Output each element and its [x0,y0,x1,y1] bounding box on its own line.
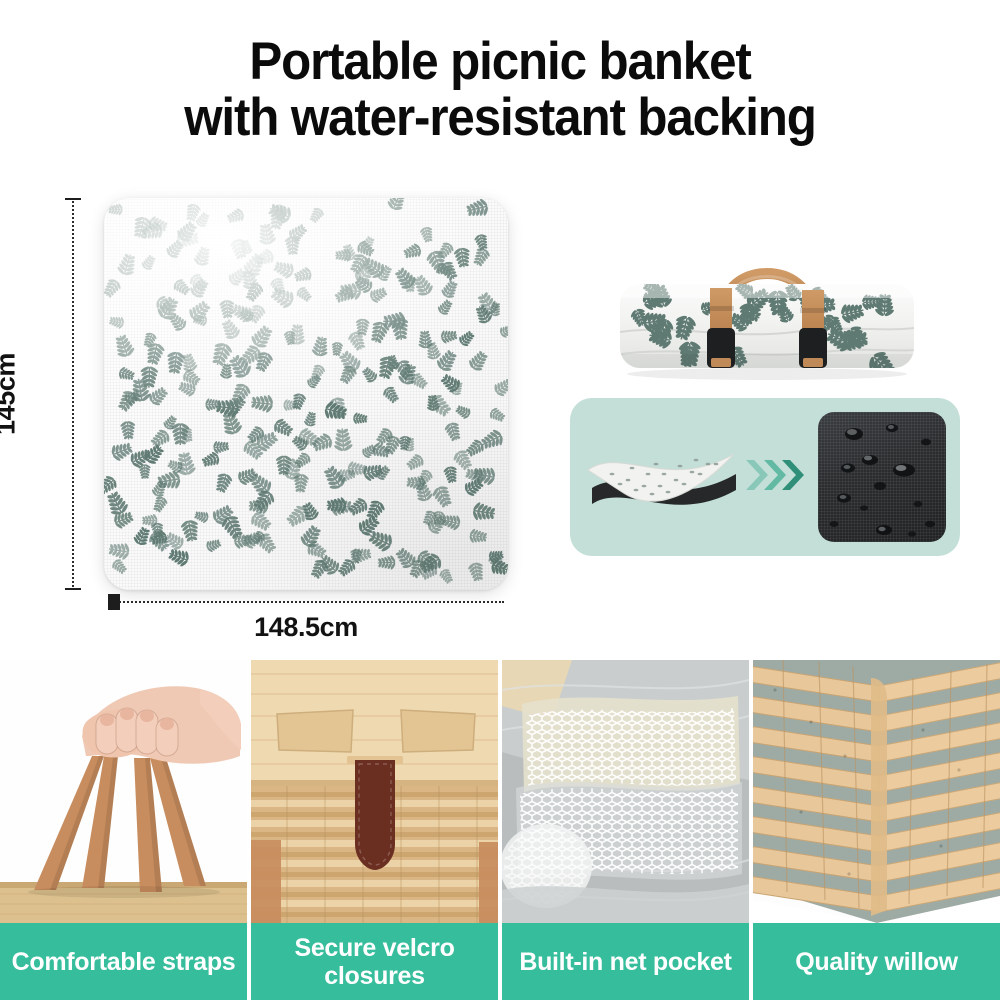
dimension-dotted-line [72,198,74,590]
blanket-sheen [104,198,508,590]
net-mesh-upper [526,708,736,786]
blanket-image [104,198,508,590]
dimension-cap-right [108,594,120,610]
height-dimension-label: 145cm [0,353,22,435]
blanket-surface [104,198,508,590]
width-dimension-line [108,601,504,603]
feature-card-secure-velcro-closures[interactable]: Secure velcro closures [251,660,498,1000]
width-dimension-label: 148.5cm [254,612,358,643]
headline-line-2: with water-resistant backing [35,90,965,146]
lid-slot-left [277,710,353,752]
fabric-layers-illustration [586,426,746,530]
feature-photo-willow [753,660,1000,923]
chevron-arrows-icon [742,454,804,496]
dimension-cap-top [65,198,81,200]
feature-card-built-in-net-pocket[interactable]: Built-in net pocket [502,660,749,1000]
feature-card-quality-willow[interactable]: Quality willow [753,660,1000,1000]
strap-right [479,842,498,923]
height-dimension-line [72,198,74,590]
headline-line-1: Portable picnic banket [249,32,750,91]
dimension-dotted-line [108,601,504,603]
rolled-blanket-image [614,228,920,380]
feature-photo-velcro [251,660,498,923]
feature-caption: Secure velcro closures [251,923,498,1000]
strap-left [251,840,281,923]
water-droplet-fabric-swatch [818,412,946,542]
page-title: Portable picnic banket with water-resist… [35,34,965,145]
feature-grid: Comfortable straps [0,660,1000,1000]
feature-caption: Built-in net pocket [502,923,749,1000]
dimension-cap-bottom [65,588,81,590]
lid-slot-right [401,710,475,752]
feature-caption: Comfortable straps [0,923,247,1000]
water-resistant-panel [570,398,960,556]
buckle-strap-right [799,290,827,368]
feature-card-comfortable-straps[interactable]: Comfortable straps [0,660,247,1000]
feature-photo-straps [0,660,247,923]
buckle-strap-left [707,288,735,368]
feature-photo-net-pocket [502,660,749,923]
feature-caption: Quality willow [753,923,1000,1000]
corner-post [871,678,887,916]
product-infographic: Portable picnic banket with water-resist… [0,0,1000,1000]
